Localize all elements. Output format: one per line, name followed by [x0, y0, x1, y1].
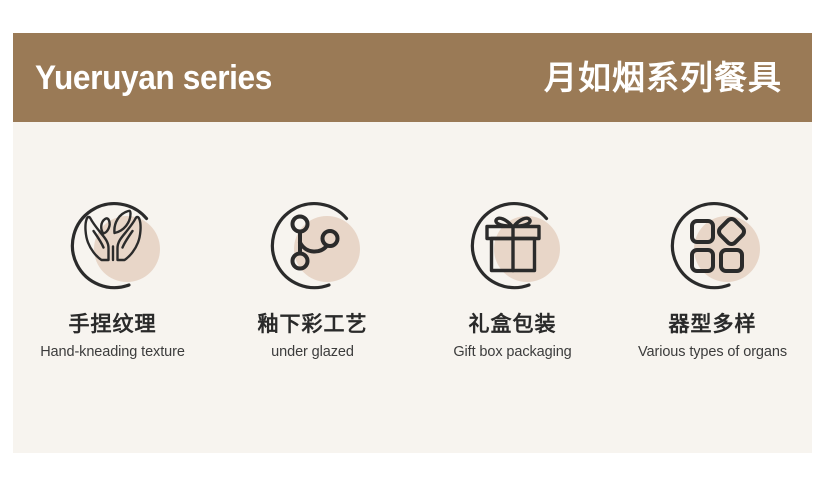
features-row: 手捏纹理 Hand-kneading texture — [13, 122, 812, 361]
feature-item-gift-box: 礼盒包装 Gift box packaging — [413, 180, 612, 361]
feature-item-hand-kneading: 手捏纹理 Hand-kneading texture — [13, 180, 212, 361]
feature-title-english: under glazed — [271, 345, 354, 361]
header-title-english: Yueruyan series — [35, 61, 272, 95]
shapes-grid-icon — [655, 180, 771, 296]
feature-title-chinese: 礼盒包装 — [469, 313, 557, 336]
feature-item-various-shapes: 器型多样 Various types of organs — [613, 180, 812, 361]
feature-item-under-glazed: 釉下彩工艺 under glazed — [213, 180, 412, 361]
feature-title-chinese: 器型多样 — [669, 313, 757, 336]
hands-holding-leaves-icon — [55, 180, 171, 296]
git-branch-nodes-icon — [255, 180, 371, 296]
feature-title-chinese: 釉下彩工艺 — [258, 313, 368, 336]
promo-banner: Yueruyan series 月如烟系列餐具 — [0, 0, 827, 481]
feature-title-english: Gift box packaging — [453, 345, 571, 361]
feature-title-chinese: 手捏纹理 — [69, 313, 157, 336]
feature-title-english: Hand-kneading texture — [40, 345, 185, 361]
gift-box-icon — [455, 180, 571, 296]
header-bar: Yueruyan series 月如烟系列餐具 — [13, 33, 812, 122]
header-title-chinese: 月如烟系列餐具 — [544, 61, 782, 94]
feature-title-english: Various types of organs — [638, 345, 787, 361]
content-panel: 手捏纹理 Hand-kneading texture — [13, 122, 812, 453]
